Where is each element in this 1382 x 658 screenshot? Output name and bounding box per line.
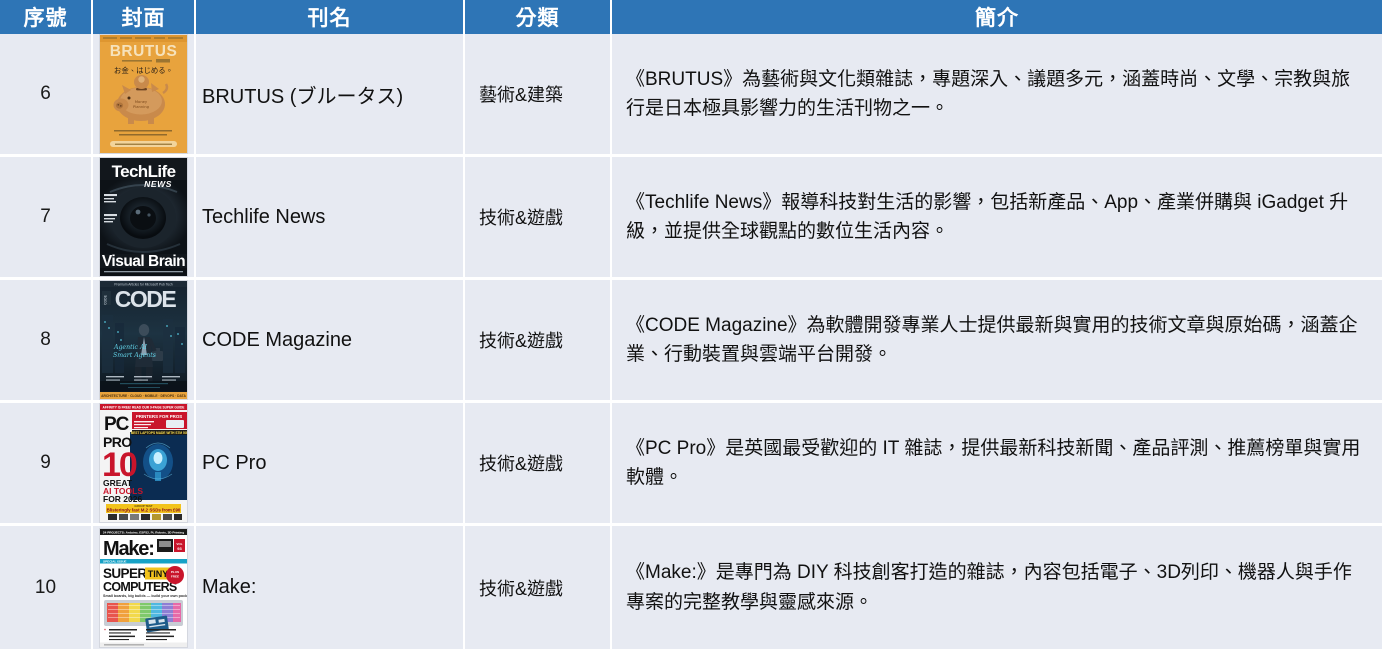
svg-text:Visual Brain: Visual Brain (102, 253, 185, 270)
cell-cover[interactable]: TechLife NEWS Visual Brain (93, 157, 196, 280)
cell-name: Make: (196, 526, 465, 649)
cell-cover[interactable]: BRUTUS お金、はじめる。 (93, 34, 196, 157)
svg-text:TINY: TINY (148, 569, 169, 579)
column-header-cat[interactable]: 分類 (465, 0, 612, 34)
cell-cover[interactable]: Premium Articles for Microsoft Pub Tech (93, 280, 196, 403)
svg-text:24 PROJECTS: Arduino, ESP32, P: 24 PROJECTS: Arduino, ESP32, Pi, Robots,… (103, 530, 184, 534)
cell-description: 《Techlife News》報導科技對生活的影響，包括新產品、App、產業併購… (612, 157, 1382, 280)
svg-text:PC: PC (104, 414, 130, 435)
make-magazine-cover-image[interactable]: 24 PROJECTS: Arduino, ESP32, Pi, Robots,… (100, 529, 187, 647)
techlife-news-cover-image[interactable]: TechLife NEWS Visual Brain (100, 158, 187, 276)
svg-text:Small boards, big builds — bui: Small boards, big builds — build your ow… (103, 594, 187, 598)
svg-text:Planning: Planning (133, 105, 149, 109)
pc-pro-cover-image[interactable]: AFFINITY IS FREE! READ OUR 9-PAGE SUPER … (100, 404, 187, 522)
column-header-desc[interactable]: 簡介 (612, 0, 1382, 34)
svg-text:Make:: Make: (103, 538, 154, 560)
svg-text:PLUS: PLUS (171, 570, 179, 574)
table-row[interactable]: 6 BRUTUS お金、はじめる。 (0, 34, 1382, 157)
cell-description: 《CODE Magazine》為軟體開發專業人士提供最新與實用的技術文章與原始碼… (612, 280, 1382, 403)
cell-description: 《BRUTUS》為藝術與文化類雜誌，專題深入、議題多元，涵蓋時尚、文學、宗教與旅… (612, 34, 1382, 157)
magazine-table-container: 序號 封面 刊名 分類 簡介 6 (0, 0, 1382, 658)
table-row[interactable]: 9 AFFINITY IS FREE! READ OUR 9-PAGE SUPE… (0, 403, 1382, 526)
cell-cover[interactable]: 24 PROJECTS: Arduino, ESP32, Pi, Robots,… (93, 526, 196, 649)
svg-text:Blisteringly fast M.2 SSDs fro: Blisteringly fast M.2 SSDs from £90 (107, 508, 181, 513)
svg-text:お金、はじめる。: お金、はじめる。 (114, 66, 173, 75)
svg-text:+: + (104, 628, 106, 632)
table-header-row: 序號 封面 刊名 分類 簡介 (0, 0, 1382, 34)
svg-text:Money: Money (135, 100, 148, 104)
table-row[interactable]: 8 Premium Articles for Micro (0, 280, 1382, 403)
svg-text:93: 93 (177, 546, 182, 551)
svg-text:CODE: CODE (115, 286, 177, 312)
cell-category: 技術&遊戲 (465, 280, 612, 403)
svg-text:COMPUTERS: COMPUTERS (103, 580, 177, 594)
svg-text:SPECIAL ISSUE: SPECIAL ISSUE (103, 559, 127, 563)
cell-seq: 10 (0, 526, 93, 649)
svg-text:AFFINITY IS FREE! READ OUR 9-P: AFFINITY IS FREE! READ OUR 9-PAGE SUPER … (103, 405, 185, 409)
svg-text:FREE: FREE (171, 574, 179, 578)
cell-seq: 8 (0, 280, 93, 403)
cell-seq: 6 (0, 34, 93, 157)
svg-text:CODE: CODE (104, 294, 108, 305)
cell-cover[interactable]: AFFINITY IS FREE! READ OUR 9-PAGE SUPER … (93, 403, 196, 526)
cell-description: 《PC Pro》是英國最受歡迎的 IT 雜誌，提供最新科技新聞、產品評測、推薦榜… (612, 403, 1382, 526)
table-row[interactable]: 10 24 PROJECTS: Arduino, ESP32, Pi, Robo… (0, 526, 1382, 649)
table-row[interactable]: 7 (0, 157, 1382, 280)
svg-text:Smart Agents: Smart Agents (113, 352, 156, 359)
column-header-seq[interactable]: 序號 (0, 0, 93, 34)
svg-text:Agentic AI: Agentic AI (113, 344, 147, 351)
table-body: 6 BRUTUS お金、はじめる。 (0, 34, 1382, 649)
svg-text:NEWS: NEWS (144, 179, 172, 189)
cell-name: CODE Magazine (196, 280, 465, 403)
magazine-table: 序號 封面 刊名 分類 簡介 6 (0, 0, 1382, 649)
column-header-name[interactable]: 刊名 (196, 0, 465, 34)
svg-text:BEST LAPTOPS MADE WITH STM 5G: BEST LAPTOPS MADE WITH STM 5G (131, 431, 187, 435)
svg-text:PRINTERS FOR PROS: PRINTERS FOR PROS (136, 414, 182, 419)
cell-description: 《Make:》是專門為 DIY 科技創客打造的雜誌，內容包括電子、3D列印、機器… (612, 526, 1382, 649)
cell-seq: 7 (0, 157, 93, 280)
cell-seq: 9 (0, 403, 93, 526)
table-header: 序號 封面 刊名 分類 簡介 (0, 0, 1382, 34)
brutus-cover-image[interactable]: BRUTUS お金、はじめる。 (100, 35, 187, 153)
cell-name: BRUTUS (ブルータス) (196, 34, 465, 157)
cell-category: 技術&遊戲 (465, 157, 612, 280)
code-magazine-cover-image[interactable]: Premium Articles for Microsoft Pub Tech (100, 281, 187, 399)
cell-category: 技術&遊戲 (465, 526, 612, 649)
svg-text:ARCHITECTURE · CLOUD · MOBILE: ARCHITECTURE · CLOUD · MOBILE · DEVOPS ·… (101, 394, 186, 398)
cell-name: Techlife News (196, 157, 465, 280)
svg-text:BRUTUS: BRUTUS (110, 43, 178, 60)
cell-name: PC Pro (196, 403, 465, 526)
column-header-cover[interactable]: 封面 (93, 0, 196, 34)
svg-text:FOR 2026: FOR 2026 (103, 494, 142, 504)
svg-text:SUPER: SUPER (103, 566, 147, 581)
cell-category: 技術&遊戲 (465, 403, 612, 526)
cell-category: 藝術&建築 (465, 34, 612, 157)
